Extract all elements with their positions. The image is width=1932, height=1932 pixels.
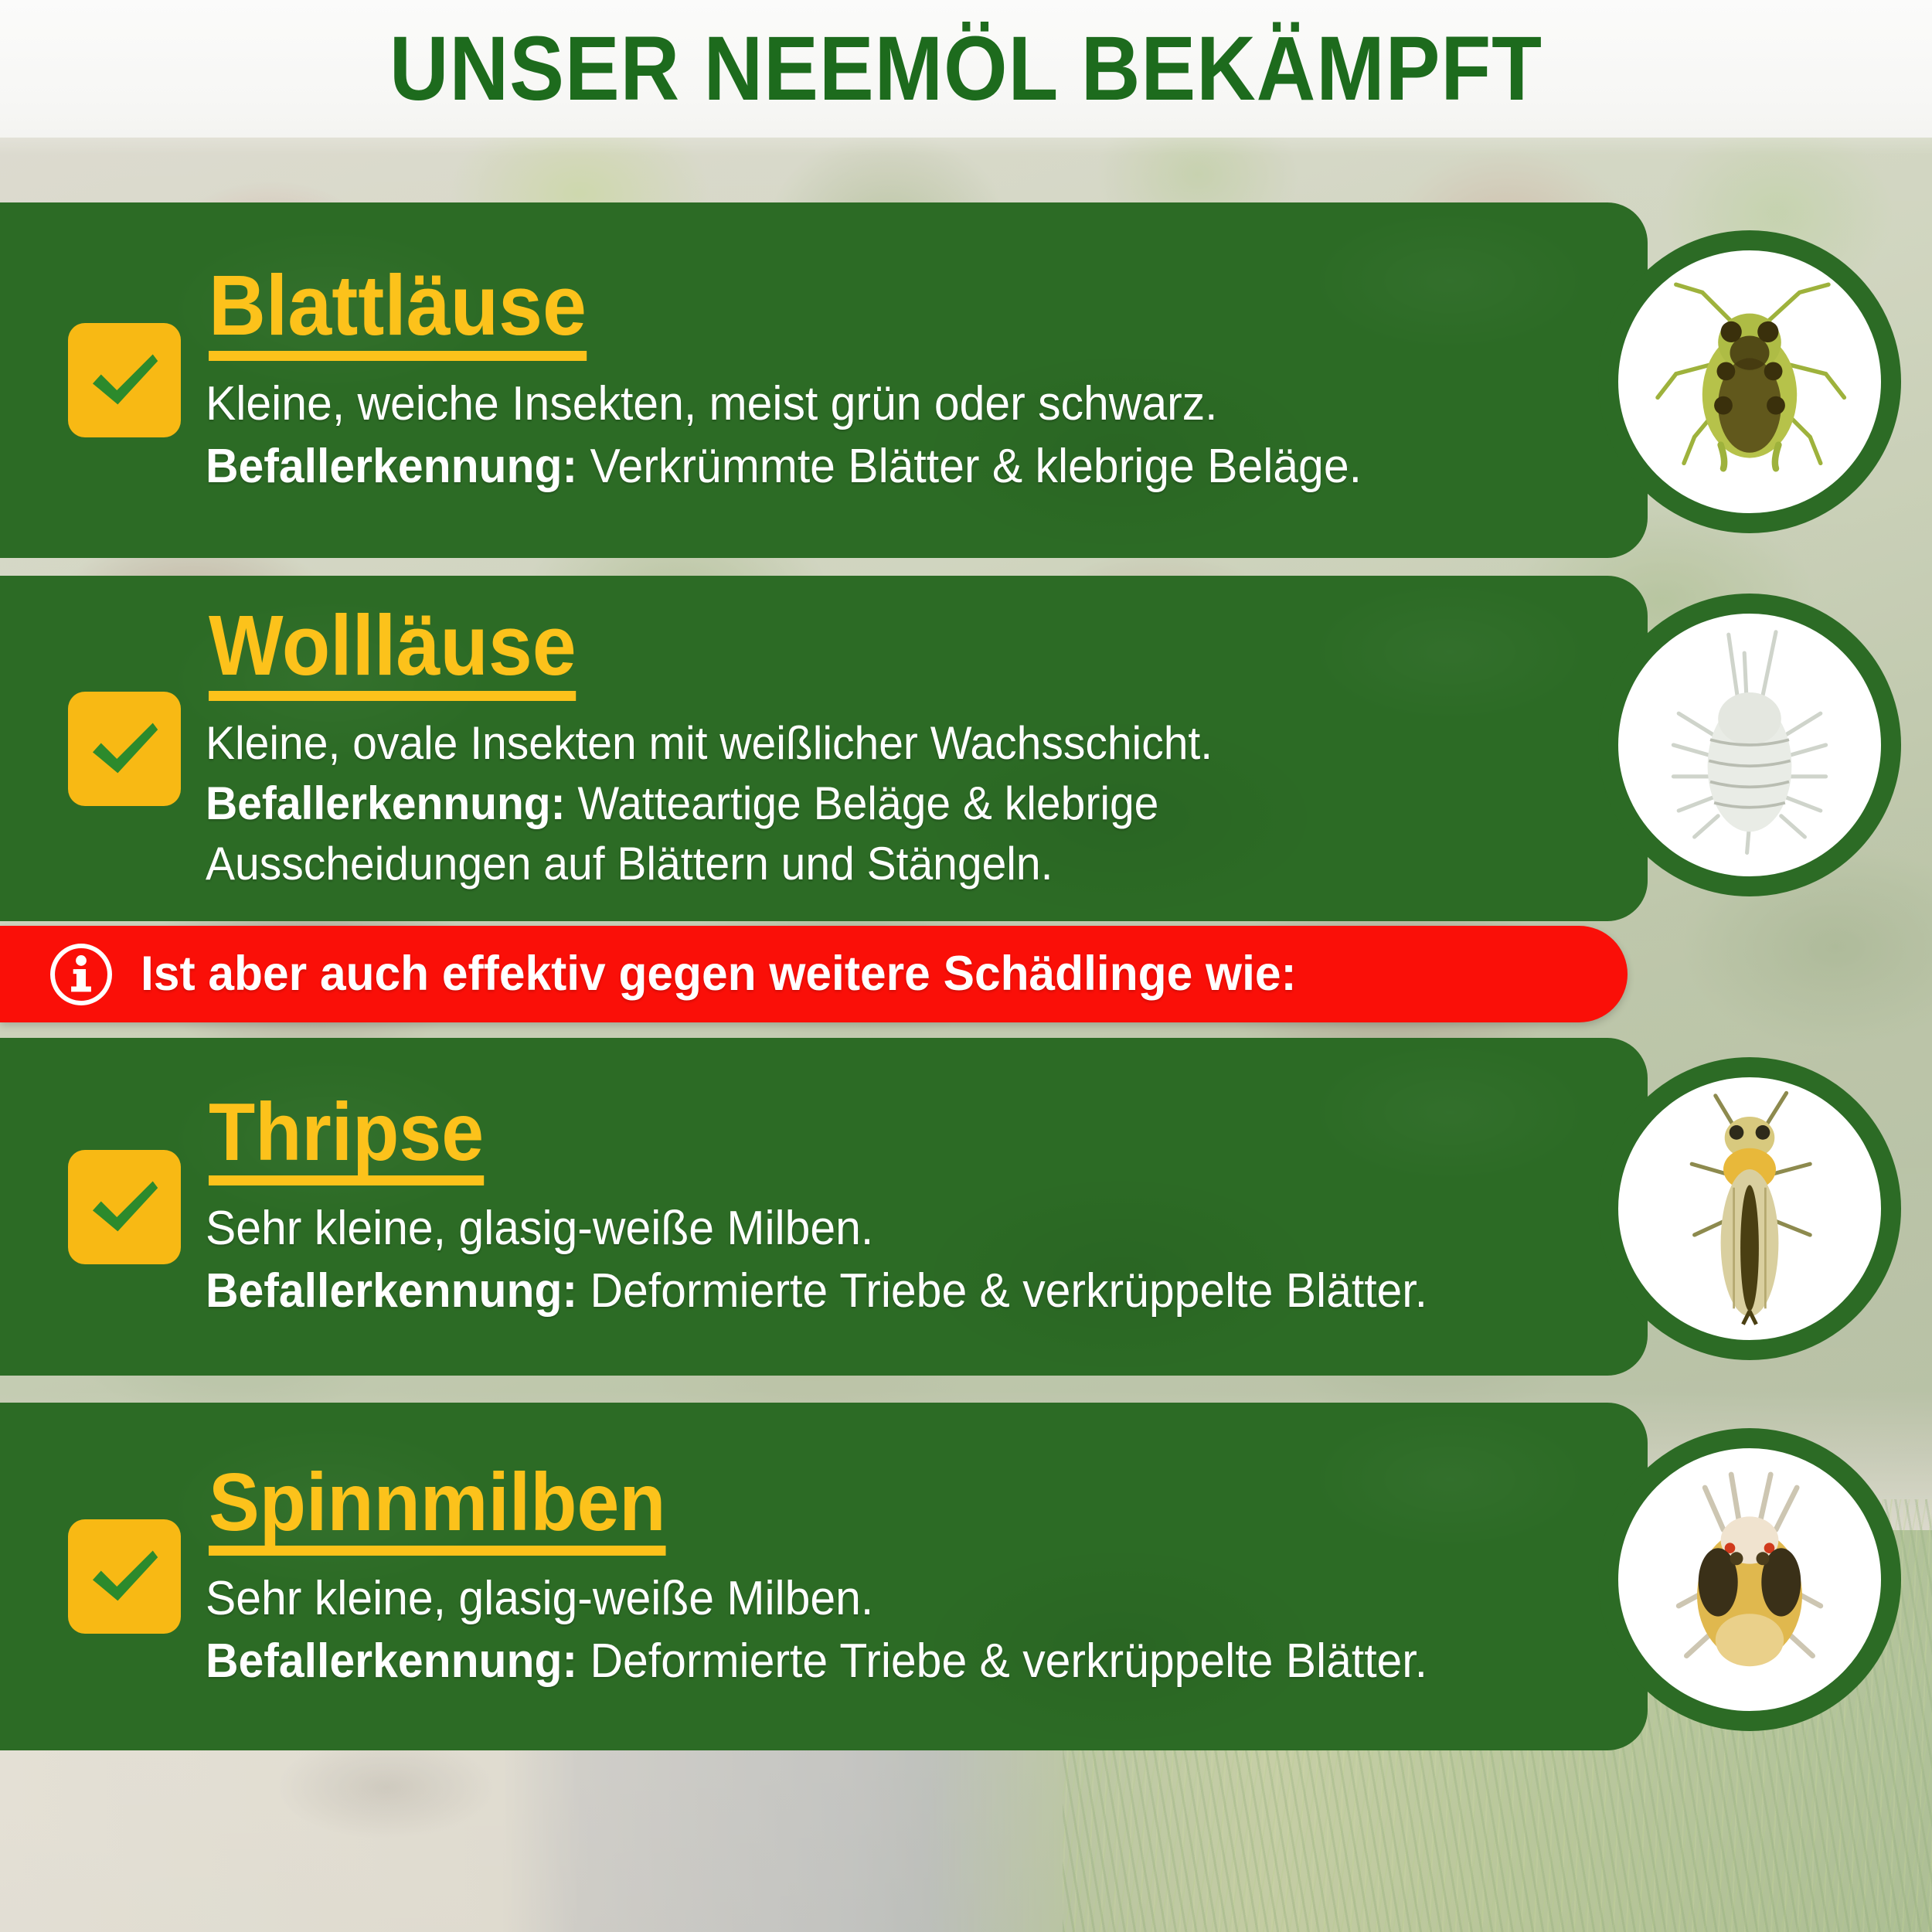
- pest-detection-label: Befallerkennung:: [206, 440, 590, 493]
- info-circle-icon: [48, 941, 114, 1008]
- pest-description-line: Sehr kleine, glasig-weiße Milben.: [206, 1568, 1576, 1631]
- spider-mite-photo: [1598, 1428, 1901, 1731]
- pest-description-line: Sehr kleine, glasig-weiße Milben.: [206, 1198, 1576, 1260]
- pest-description-text: Sehr kleine, glasig-weiße Milben.: [206, 1572, 873, 1625]
- pest-detection-label: Befallerkennung:: [206, 1634, 590, 1688]
- pest-detection-label: Befallerkennung:: [206, 777, 577, 829]
- aphid-photo: [1598, 230, 1901, 533]
- checkbox-checked-icon: [68, 323, 181, 437]
- pest-description-text: Kleine, weiche Insekten, meist grün oder…: [206, 377, 1218, 430]
- page-title: UNSER NEEMÖL BEKÄMPFT: [389, 23, 1543, 114]
- pest-text-block: Blattläuse Kleine, weiche Insekten, meis…: [206, 263, 1648, 498]
- pest-panel-thripse: Thripse Sehr kleine, glasig-weiße Milben…: [0, 1038, 1648, 1376]
- pest-detection-line-continued: Ausscheidungen auf Blättern und Stängeln…: [206, 834, 1576, 894]
- pest-text-block: Wollläuse Kleine, ovale Insekten mit wei…: [206, 603, 1648, 894]
- pest-description-text: Sehr kleine, glasig-weiße Milben.: [206, 1202, 873, 1255]
- pest-panel-spinnmilben: Spinnmilben Sehr kleine, glasig-weiße Mi…: [0, 1403, 1648, 1750]
- pest-text-block: Spinnmilben Sehr kleine, glasig-weiße Mi…: [206, 1461, 1648, 1692]
- pest-description-line: Kleine, weiche Insekten, meist grün oder…: [206, 373, 1576, 436]
- pest-title-spinnmilben: Spinnmilben: [209, 1461, 665, 1556]
- pest-detection-text: Deformierte Triebe & verkrüppelte Blätte…: [590, 1264, 1427, 1318]
- pest-detection-label: Befallerkennung:: [206, 1264, 590, 1318]
- pest-detection-line: Befallerkennung: Deformierte Triebe & ve…: [206, 1260, 1576, 1323]
- pest-description-line: Kleine, ovale Insekten mit weißlicher Wa…: [206, 713, 1576, 774]
- pest-text-block: Thripse Sehr kleine, glasig-weiße Milben…: [206, 1090, 1648, 1322]
- infographic-poster: UNSER NEEMÖL BEKÄMPFT Blattläuse Kleine,…: [0, 0, 1932, 1932]
- checkbox-checked-icon: [68, 692, 181, 806]
- checkbox-checked-icon: [68, 1519, 181, 1634]
- info-banner-text: Ist aber auch effektiv gegen weitere Sch…: [141, 950, 1297, 998]
- pest-detection-text: Watteartige Beläge & klebrige: [577, 777, 1158, 829]
- mealybug-photo: [1598, 594, 1901, 896]
- pest-detection-line: Befallerkennung: Deformierte Triebe & ve…: [206, 1631, 1576, 1693]
- pest-panel-wollläuse: Wollläuse Kleine, ovale Insekten mit wei…: [0, 576, 1648, 921]
- pest-detection-line: Befallerkennung: Verkrümmte Blätter & kl…: [206, 436, 1576, 498]
- pest-detection-text: Verkrümmte Blätter & klebrige Beläge.: [590, 440, 1361, 493]
- pest-title-blattlaeuse: Blattläuse: [209, 263, 587, 361]
- pest-description-text: Kleine, ovale Insekten mit weißlicher Wa…: [206, 717, 1213, 769]
- header-bar: UNSER NEEMÖL BEKÄMPFT: [0, 0, 1932, 138]
- pest-title-thripse: Thripse: [209, 1090, 484, 1185]
- pest-title-wollläuse: Wollläuse: [209, 603, 577, 701]
- thrips-photo: [1598, 1057, 1901, 1360]
- pest-panel-blattlaeuse: Blattläuse Kleine, weiche Insekten, meis…: [0, 202, 1648, 558]
- pest-detection-text: Deformierte Triebe & verkrüppelte Blätte…: [590, 1634, 1427, 1688]
- pest-detection-line: Befallerkennung: Watteartige Beläge & kl…: [206, 774, 1576, 834]
- pest-detection-text-continued: Ausscheidungen auf Blättern und Stängeln…: [206, 838, 1053, 889]
- info-banner: Ist aber auch effektiv gegen weitere Sch…: [0, 926, 1628, 1022]
- checkbox-checked-icon: [68, 1150, 181, 1264]
